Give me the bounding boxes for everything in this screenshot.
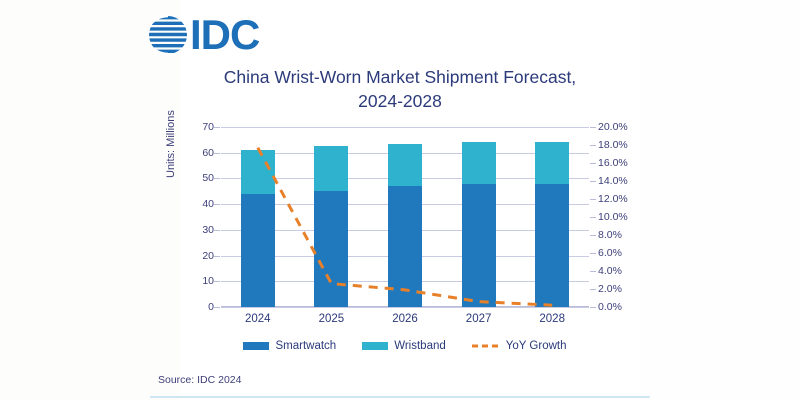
- y-axis-right-tick-mark: [590, 235, 596, 236]
- x-axis-tick-label: 2027: [466, 313, 492, 325]
- source-note: Source: IDC 2024: [158, 374, 241, 386]
- y-axis-left-tick-label: 50: [202, 172, 214, 184]
- y-axis-left-tick-mark: [214, 204, 220, 205]
- legend-label: YoY Growth: [506, 340, 567, 352]
- x-axis-tick-label: 2025: [319, 313, 345, 325]
- y-axis-left-tick-label: 20: [202, 250, 214, 262]
- chart-title-line-1: China Wrist-Worn Market Shipment Forecas…: [160, 66, 640, 90]
- globe-icon: [147, 14, 189, 56]
- x-axis-tick-label: 2026: [392, 313, 418, 325]
- gridline: [221, 307, 589, 308]
- y-axis-right-tick-label: 2.0%: [598, 283, 622, 295]
- y-axis-left-tick-label: 70: [202, 121, 214, 133]
- legend-label: Wristband: [394, 340, 446, 352]
- background-wash-left: [0, 0, 180, 400]
- legend-item[interactable]: Wristband: [362, 340, 446, 352]
- y-axis-right-tick-label: 10.0%: [598, 211, 628, 223]
- y-axis-right-tick-mark: [590, 307, 596, 308]
- y-axis-left-tick-label: 40: [202, 198, 214, 210]
- y-axis-right-tick-label: 0.0%: [598, 301, 622, 313]
- plot-area: 010203040506070 0.0%2.0%4.0%6.0%8.0%10.0…: [221, 127, 589, 307]
- y-axis-right-tick-label: 20.0%: [598, 121, 628, 133]
- legend-label: Smartwatch: [275, 340, 336, 352]
- y-axis-right-tick-mark: [590, 289, 596, 290]
- idc-logo: IDC: [147, 12, 259, 58]
- chart-legend: SmartwatchWristbandYoY Growth: [221, 340, 589, 352]
- y-axis-left-tick-mark: [214, 307, 220, 308]
- y-axis-left-tick-mark: [214, 230, 220, 231]
- y-axis-right-tick-label: 8.0%: [598, 229, 622, 241]
- y-axis-right-tick-mark: [590, 127, 596, 128]
- y-axis-right-tick-mark: [590, 145, 596, 146]
- y-axis-right-tick-mark: [590, 271, 596, 272]
- y-axis-right-tick-mark: [590, 181, 596, 182]
- logo-wordmark: IDC: [190, 14, 259, 56]
- y-axis-right-tick-mark: [590, 199, 596, 200]
- chart-title: China Wrist-Worn Market Shipment Forecas…: [160, 66, 640, 113]
- yoy-growth-line: [221, 127, 589, 307]
- y-axis-label: Units: Millions: [165, 110, 177, 178]
- y-axis-left-tick-mark: [214, 178, 220, 179]
- legend-color-swatch: [243, 342, 269, 350]
- y-axis-left-tick-label: 60: [202, 147, 214, 159]
- y-axis-right-tick-label: 16.0%: [598, 157, 628, 169]
- legend-color-swatch: [362, 342, 388, 350]
- y-axis-right-tick-mark: [590, 253, 596, 254]
- x-axis-tick-label: 2024: [245, 313, 271, 325]
- y-axis-left-tick-mark: [214, 281, 220, 282]
- y-axis-right-tick-label: 6.0%: [598, 247, 622, 259]
- y-axis-left-tick-mark: [214, 153, 220, 154]
- y-axis-right-tick-label: 4.0%: [598, 265, 622, 277]
- y-axis-right-tick-label: 18.0%: [598, 139, 628, 151]
- chart-title-line-2: 2024-2028: [160, 90, 640, 114]
- y-axis-right-tick-label: 14.0%: [598, 175, 628, 187]
- bottom-rule: [150, 396, 650, 398]
- chart-figure: IDC China Wrist-Worn Market Shipment For…: [0, 0, 800, 400]
- y-axis-right-tick-mark: [590, 217, 596, 218]
- x-axis-tick-label: 2028: [539, 313, 565, 325]
- y-axis-right-tick-label: 12.0%: [598, 193, 628, 205]
- y-axis-right-tick-mark: [590, 163, 596, 164]
- y-axis-left-tick-label: 10: [202, 275, 214, 287]
- y-axis-left-tick-mark: [214, 127, 220, 128]
- legend-item[interactable]: YoY Growth: [472, 340, 567, 352]
- y-axis-left-tick-label: 30: [202, 224, 214, 236]
- y-axis-left-tick-mark: [214, 256, 220, 257]
- background-wash-right: [640, 0, 800, 400]
- legend-item[interactable]: Smartwatch: [243, 340, 336, 352]
- legend-dashed-line-icon: [472, 342, 500, 350]
